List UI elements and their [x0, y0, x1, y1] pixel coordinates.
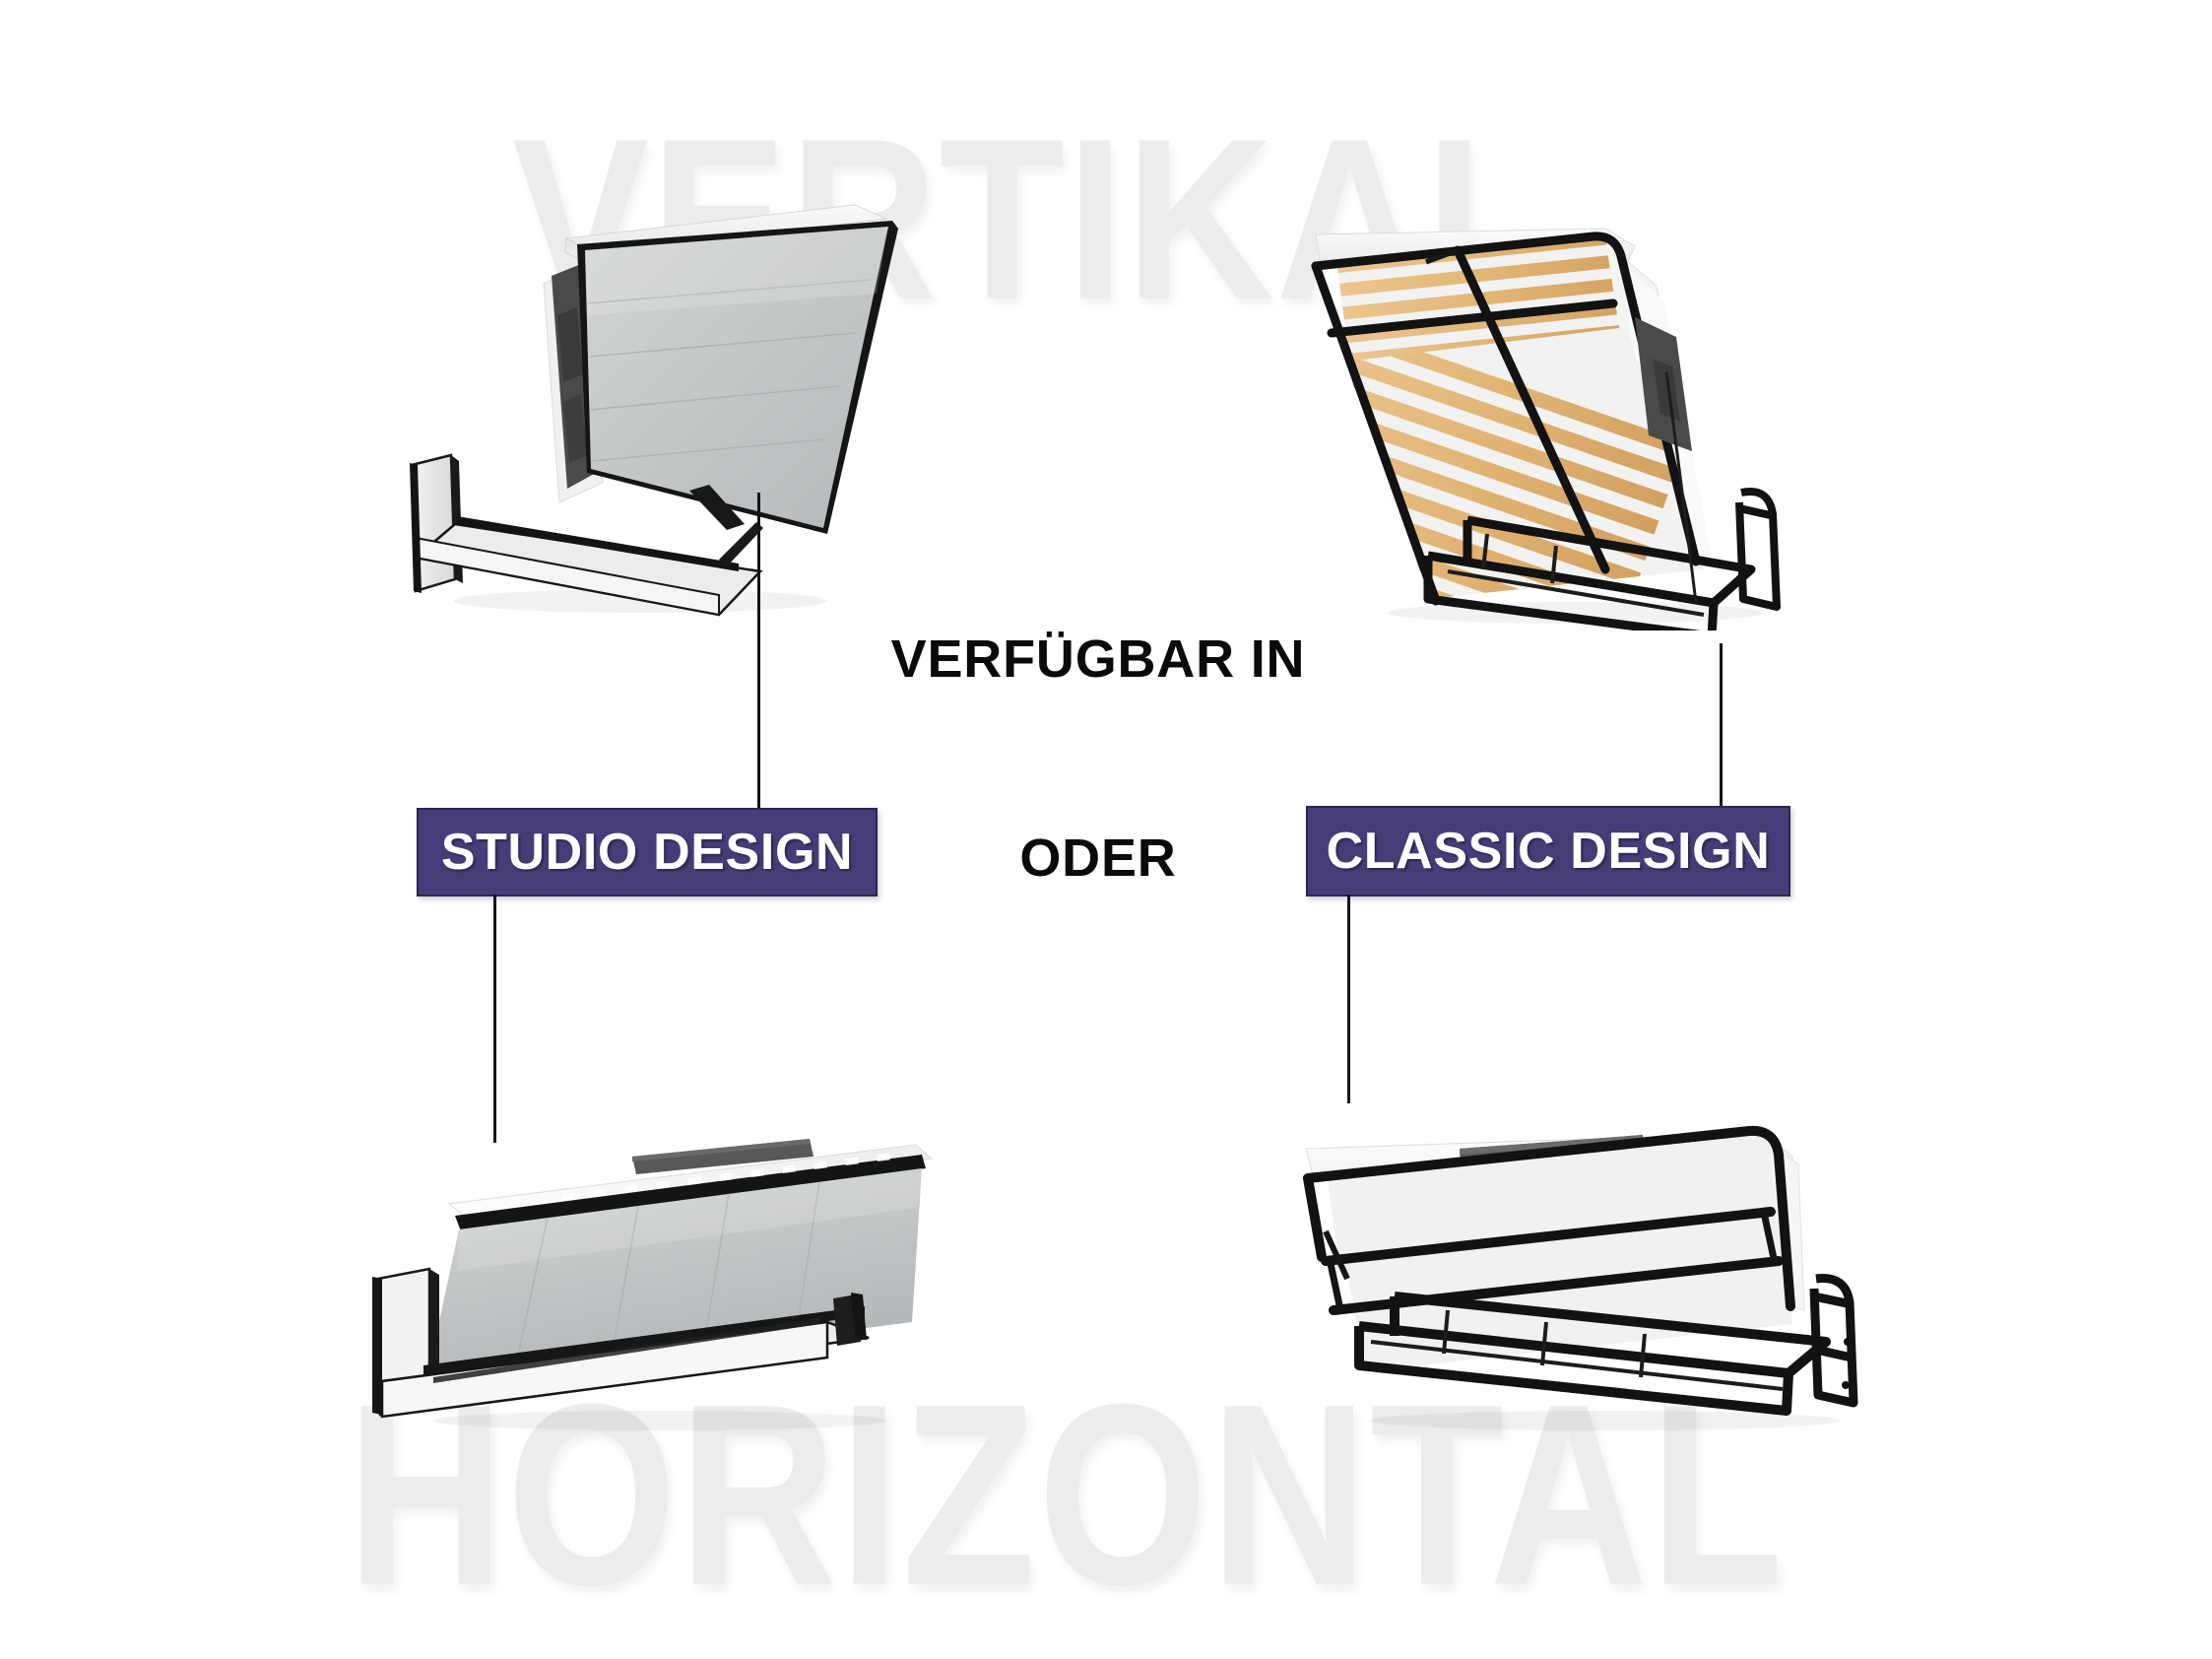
- label-studio-design[interactable]: STUDIO DESIGN: [417, 808, 878, 896]
- product-studio-horizontal: [364, 1113, 936, 1438]
- product-studio-vertical: [394, 177, 926, 621]
- studio-horizontal-illustration: [364, 1113, 936, 1438]
- connector-label-to-classic-horizontal: [1347, 895, 1350, 1103]
- classic-horizontal-illustration: [1300, 1113, 1901, 1438]
- heading-oder: ODER: [881, 828, 1315, 889]
- connector-studio-vertical-to-label: [757, 493, 760, 810]
- product-classic-vertical: [1310, 177, 1832, 630]
- poster-canvas: VERTIKAL: [0, 0, 2212, 1659]
- heading-verfuegbar-in: VERFÜGBAR IN: [783, 629, 1413, 690]
- label-classic-design-text: CLASSIC DESIGN: [1327, 822, 1771, 881]
- connector-classic-vertical-to-label: [1720, 643, 1723, 808]
- connector-label-to-studio-horizontal: [493, 895, 496, 1143]
- product-classic-horizontal: [1300, 1113, 1901, 1438]
- studio-vertical-illustration: [394, 177, 926, 621]
- label-classic-design[interactable]: CLASSIC DESIGN: [1306, 806, 1790, 896]
- label-studio-design-text: STUDIO DESIGN: [441, 823, 853, 882]
- classic-vertical-illustration: [1310, 177, 1832, 630]
